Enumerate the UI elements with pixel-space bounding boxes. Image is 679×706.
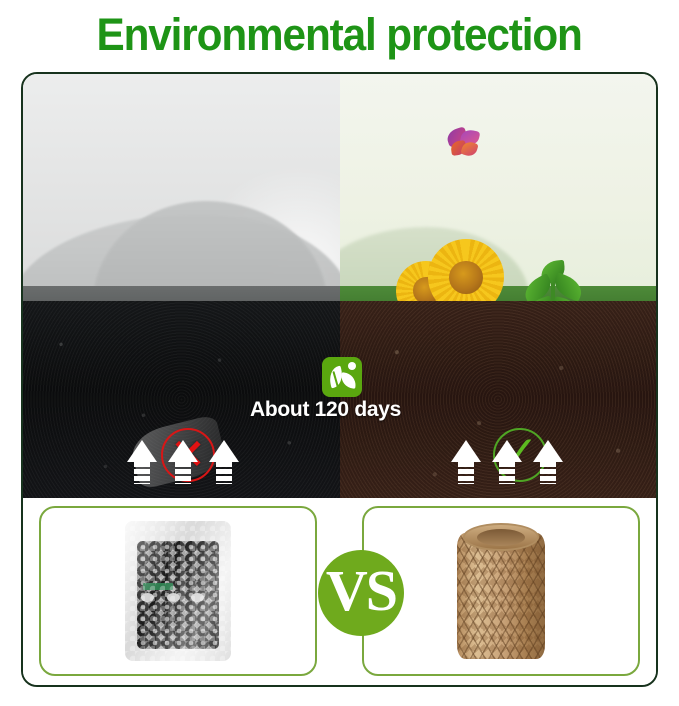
arrow-head bbox=[451, 440, 481, 462]
comparison-photo: ✕ ✓ About 120 days bbox=[23, 74, 656, 498]
arrow-head bbox=[492, 440, 522, 462]
arrow-body bbox=[175, 462, 191, 484]
right-half-color bbox=[340, 74, 657, 498]
up-arrow-icon bbox=[451, 440, 481, 484]
page-title-bar: Environmental protection bbox=[0, 0, 679, 68]
arrow-head bbox=[127, 440, 157, 462]
up-arrow-icon bbox=[209, 440, 239, 484]
arrow-body bbox=[458, 462, 474, 484]
butterfly-icon bbox=[447, 129, 483, 159]
page-title: Environmental protection bbox=[97, 12, 582, 57]
plastic-product-panel[interactable] bbox=[39, 506, 317, 676]
leaf-blade-right bbox=[340, 372, 356, 388]
content-frame: ✕ ✓ About 120 days bbox=[21, 72, 658, 687]
sun-dot-icon bbox=[348, 362, 356, 370]
roll-top-opening bbox=[477, 529, 525, 546]
honeycomb-mesh bbox=[457, 533, 545, 659]
arrows-left-group bbox=[127, 440, 239, 484]
arrow-body bbox=[216, 462, 232, 484]
arrow-head bbox=[209, 440, 239, 462]
plastic-sheen bbox=[125, 521, 231, 661]
duration-caption: About 120 days bbox=[250, 398, 401, 422]
vs-badge: VS bbox=[318, 550, 404, 636]
sunflower-center bbox=[449, 261, 482, 294]
up-arrow-icon bbox=[168, 440, 198, 484]
up-arrow-icon bbox=[533, 440, 563, 484]
arrow-head bbox=[168, 440, 198, 462]
arrows-right-group bbox=[451, 440, 563, 484]
arrow-body bbox=[499, 462, 515, 484]
plastic-bubble-wrap-package bbox=[125, 521, 231, 661]
arrow-body bbox=[134, 462, 150, 484]
honeycomb-kraft-paper-roll bbox=[457, 521, 545, 661]
arrow-head bbox=[533, 440, 563, 462]
vs-label: VS bbox=[326, 562, 396, 620]
leaf-sprout-icon bbox=[322, 357, 362, 397]
up-arrow-icon bbox=[492, 440, 522, 484]
product-comparison-row: VS bbox=[23, 498, 656, 685]
arrow-body bbox=[540, 462, 556, 484]
up-arrow-icon bbox=[127, 440, 157, 484]
